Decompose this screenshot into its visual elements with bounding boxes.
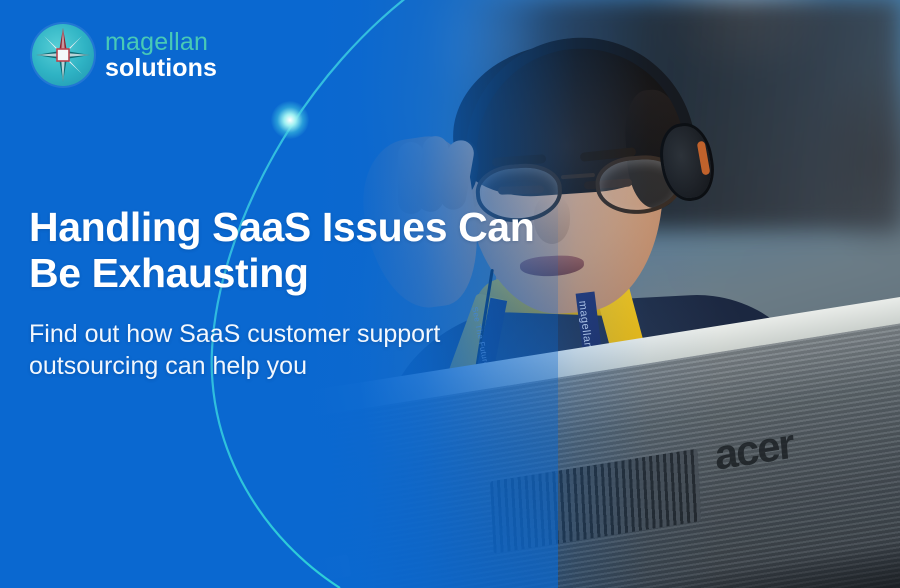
logo-word-solutions: solutions: [105, 56, 217, 81]
headset-band: [454, 26, 695, 169]
arc-glow-node: [271, 101, 309, 139]
logo-word-magellan: magellan: [105, 30, 217, 55]
monitor-vent: [490, 449, 701, 554]
monitor-label-sticker: [285, 555, 352, 587]
subheadline: Find out how SaaS customer support outso…: [29, 318, 499, 382]
monitor-brand-logo: acer: [713, 420, 795, 480]
compass-rose-icon: [32, 24, 94, 86]
marketing-banner: magellan solutions See The Future, Your …: [0, 0, 900, 588]
headline: Handling SaaS Issues Can Be Exhausting: [29, 205, 589, 297]
glasses-bridge: [561, 173, 595, 179]
magellan-solutions-logo[interactable]: magellan solutions: [32, 24, 217, 86]
logo-wordmark: magellan solutions: [105, 30, 217, 81]
